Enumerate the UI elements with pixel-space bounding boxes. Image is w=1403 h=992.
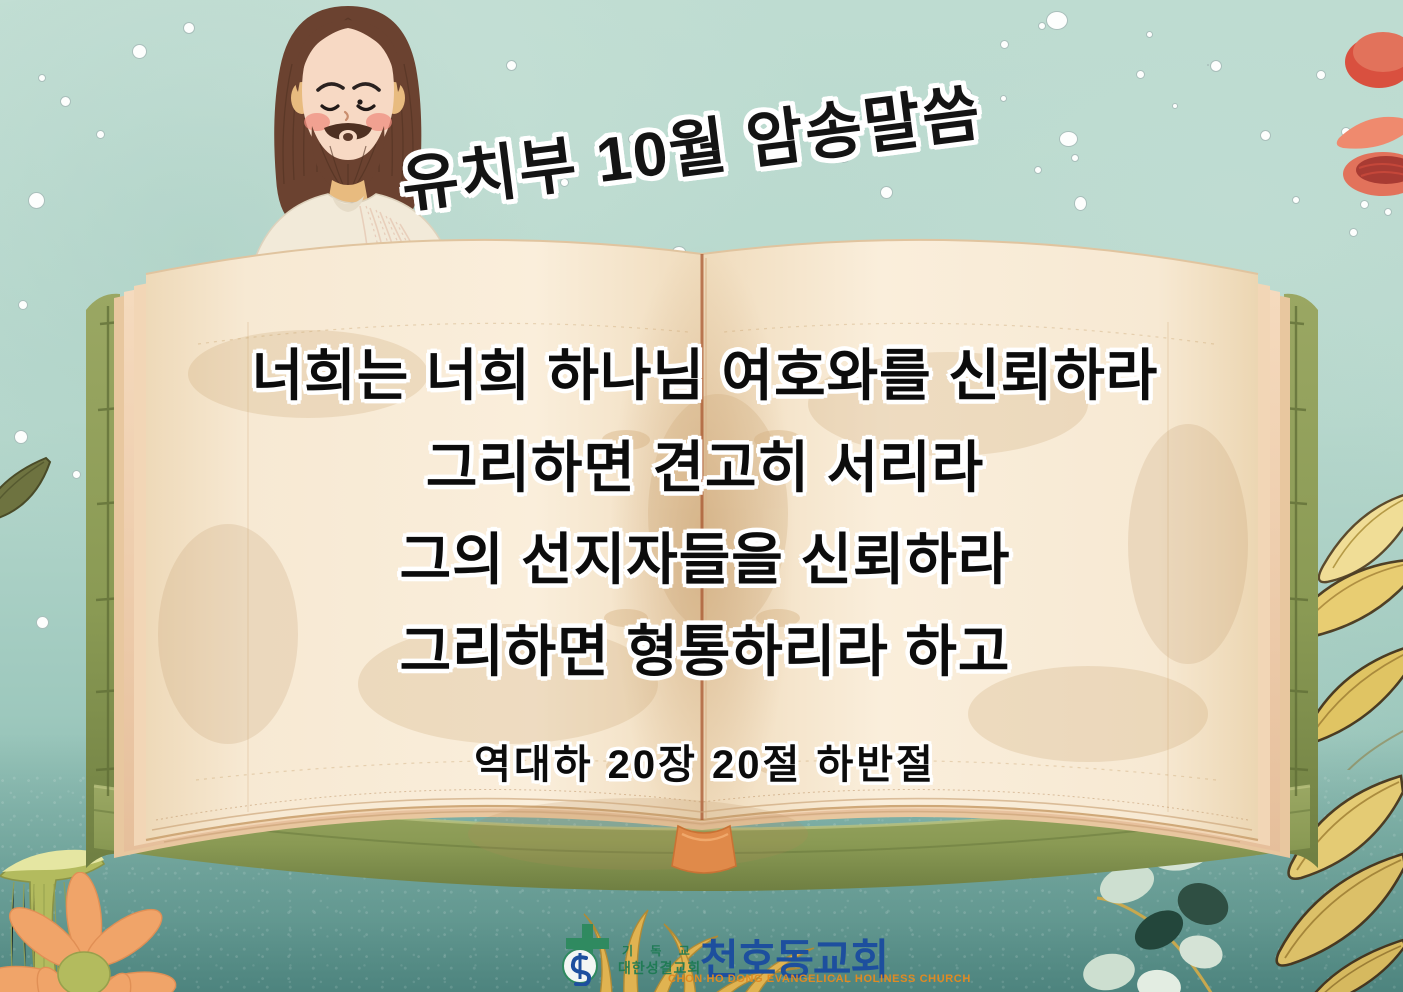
olive-leaf-left-icon — [0, 450, 52, 530]
memory-verse-poster: 유치부 10월 암송말씀 — [0, 0, 1403, 992]
logo-text-column: 기 독 교 대한성결교회 천호동교회 CHON HO DONG EVANGELI… — [616, 938, 888, 986]
coral-mushroom-top-right-icon — [1287, 26, 1403, 196]
cross-emblem-icon — [560, 922, 614, 986]
open-book-illustration — [78, 214, 1326, 914]
logo-church-name-en: CHON HO DONG EVANGELICAL HOLINESS CHURCH — [668, 973, 971, 985]
church-logo: 기 독 교 대한성결교회 천호동교회 CHON HO DONG EVANGELI… — [560, 912, 888, 986]
logo-denomination-top: 기 독 교 — [622, 942, 697, 959]
